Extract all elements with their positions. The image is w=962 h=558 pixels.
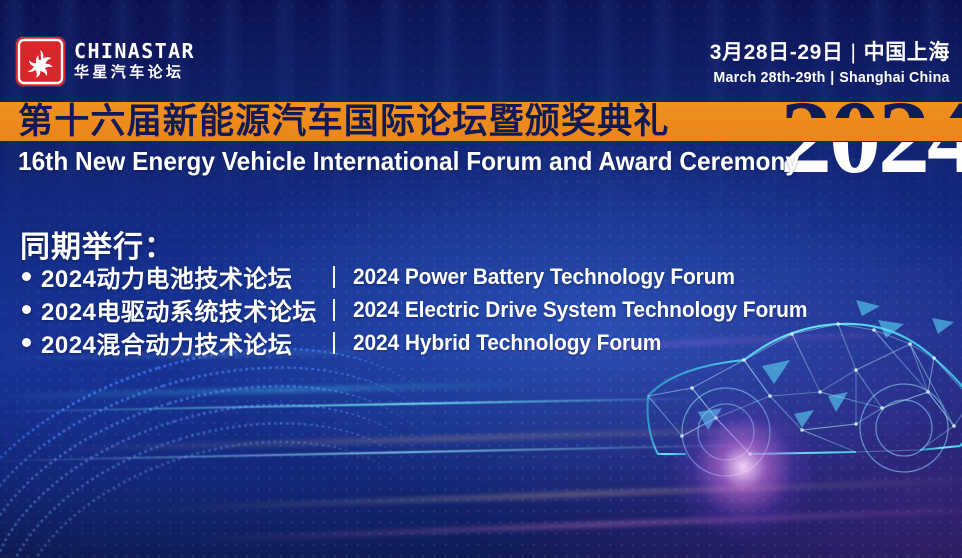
chinastar-emblem-icon (16, 37, 65, 86)
forum-name-english: 2024 Hybrid Technology Forum (353, 330, 661, 356)
date-location-chinese: 3月28日-29日|中国上海 (701, 40, 950, 65)
forum-name-chinese: 2024动力电池技术论坛 (41, 259, 333, 294)
event-poster: CHINASTAR 华星汽车论坛 3月28日-29日|中国上海 March 28… (0, 0, 962, 558)
forum-list-item: 2024混合动力技术论坛 2024 Hybrid Technology Foru… (22, 328, 831, 357)
chinastar-logo: CHINASTAR 华星汽车论坛 (16, 37, 195, 86)
forum-name-english: 2024 Electric Drive System Technology Fo… (353, 297, 807, 323)
forum-list-item: 2024电驱动系统技术论坛 2024 Electric Drive System… (22, 295, 831, 324)
main-title-english: 16th New Energy Vehicle International Fo… (18, 146, 799, 176)
bullet-icon (22, 305, 31, 314)
forum-name-english: 2024 Power Battery Technology Forum (353, 264, 735, 290)
logo-english-name: CHINASTAR (74, 41, 195, 62)
main-title-chinese: 第十六届新能源汽车国际论坛暨颁奖典礼 (18, 100, 670, 143)
event-date-location: 3月28日-29日|中国上海 March 28th-29th|Shanghai … (701, 40, 950, 88)
year-2024-graphic: 2024 2024 2024 (780, 86, 962, 190)
forum-name-chinese: 2024混合动力技术论坛 (41, 325, 333, 360)
forum-separator (333, 332, 335, 354)
forum-separator (333, 299, 335, 321)
forum-separator (333, 266, 335, 288)
bullet-icon (22, 338, 31, 347)
date-chinese: 3月28日-29日 (710, 41, 844, 64)
location-chinese: 中国上海 (864, 41, 950, 64)
logo-chinese-name: 华星汽车论坛 (74, 64, 195, 83)
logo-wordmark: CHINASTAR 华星汽车论坛 (74, 41, 195, 83)
forum-list-item: 2024动力电池技术论坛 2024 Power Battery Technolo… (22, 262, 831, 291)
concurrent-forum-list: 2024动力电池技术论坛 2024 Power Battery Technolo… (22, 262, 831, 361)
location-english: Shanghai China (840, 69, 950, 86)
date-english: March 28th-29th (714, 69, 826, 86)
forum-name-chinese: 2024电驱动系统技术论坛 (41, 292, 333, 327)
date-separator-cn: | (851, 40, 857, 65)
bullet-icon (22, 272, 31, 281)
